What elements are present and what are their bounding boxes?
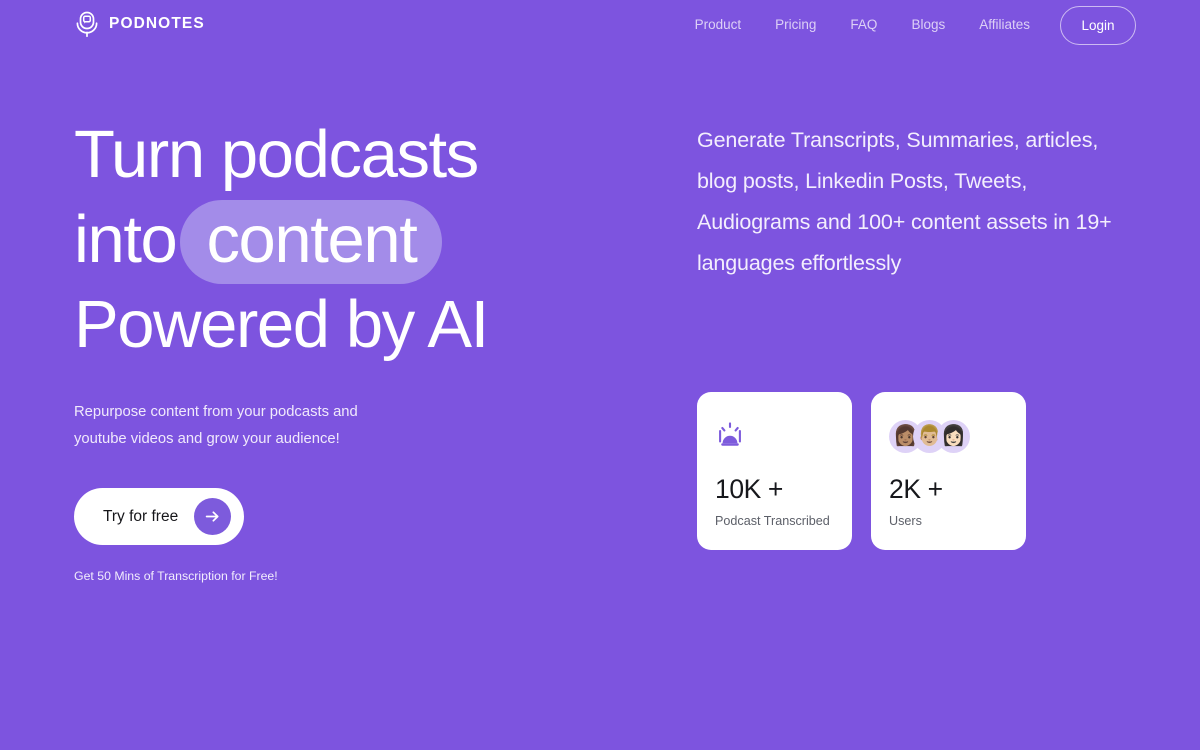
headline-highlight-pill: content	[180, 200, 442, 284]
hero-page: PODNOTES Product Pricing FAQ Blogs Affil…	[0, 0, 1200, 750]
nav-item-pricing[interactable]: Pricing	[775, 17, 816, 32]
try-for-free-button[interactable]: Try for free	[74, 488, 244, 545]
microphone-icon	[74, 10, 100, 38]
promo-text: Generate Transcripts, Summaries, article…	[697, 120, 1117, 284]
cta-note: Get 50 Mins of Transcription for Free!	[74, 569, 634, 583]
hero-right-column: Generate Transcripts, Summaries, article…	[697, 120, 1117, 284]
nav-item-affiliates[interactable]: Affiliates	[979, 17, 1030, 32]
stat-label: Users	[889, 514, 1008, 528]
avatar: 👩🏻	[937, 420, 970, 453]
brand-logo[interactable]: PODNOTES	[74, 10, 205, 38]
brand-name: PODNOTES	[109, 15, 205, 33]
nav-item-blogs[interactable]: Blogs	[911, 17, 945, 32]
user-avatars-icon: 👩🏽 👨🏼 👩🏻	[889, 414, 1008, 458]
page-title: Turn podcasts intocontent Powered by AI	[74, 112, 634, 367]
hero-subheadline: Repurpose content from your podcasts and…	[74, 399, 384, 453]
nav-item-product[interactable]: Product	[695, 17, 742, 32]
stat-card-podcasts: 10K + Podcast Transcribed	[697, 392, 852, 550]
stat-value: 2K +	[889, 474, 1008, 505]
stats-cards: 10K + Podcast Transcribed 👩🏽 👨🏼 👩🏻 2K + …	[697, 392, 1026, 550]
headline-prefix: into	[74, 202, 176, 277]
avatar-group: 👩🏽 👨🏼 👩🏻	[889, 420, 970, 453]
headline-line-3: Powered by AI	[74, 282, 634, 367]
siren-alarm-icon	[715, 414, 834, 458]
nav-links: Product Pricing FAQ Blogs Affiliates	[695, 17, 1030, 32]
stat-card-users: 👩🏽 👨🏼 👩🏻 2K + Users	[871, 392, 1026, 550]
arrow-right-icon	[194, 498, 231, 535]
login-button[interactable]: Login	[1060, 6, 1136, 45]
nav-item-faq[interactable]: FAQ	[850, 17, 877, 32]
stat-label: Podcast Transcribed	[715, 514, 834, 528]
headline-line-2: intocontent	[74, 197, 634, 282]
hero-left-column: Turn podcasts intocontent Powered by AI …	[74, 112, 634, 583]
navbar: PODNOTES Product Pricing FAQ Blogs Affil…	[0, 0, 1200, 52]
headline-line-1: Turn podcasts	[74, 112, 634, 197]
cta-row: Try for free	[74, 488, 634, 545]
cta-label: Try for free	[103, 508, 178, 526]
stat-value: 10K +	[715, 474, 834, 505]
